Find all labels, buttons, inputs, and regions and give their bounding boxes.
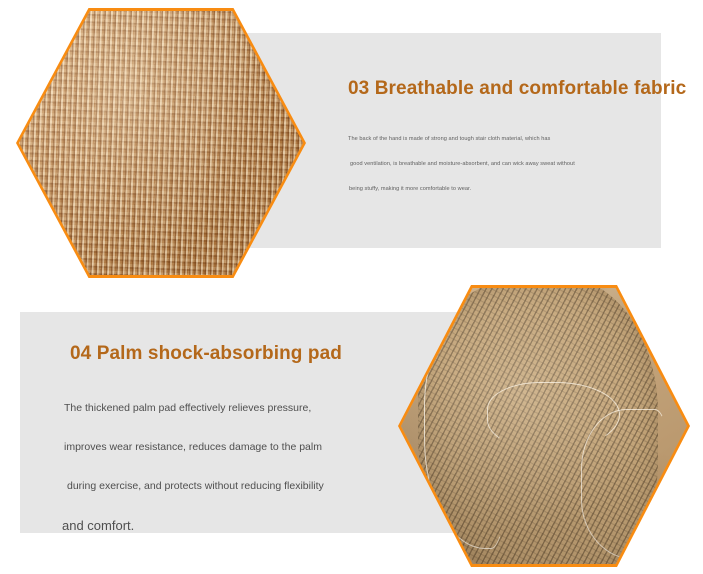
section-03-body-line-1: The back of the hand is made of strong a… bbox=[348, 136, 610, 143]
section-04-body-line-2: improves wear resistance, reduces damage… bbox=[64, 441, 364, 454]
glove-shading-overlay bbox=[401, 288, 687, 564]
section-03-hexagon-image bbox=[16, 8, 306, 278]
product-feature-page: 03 Breathable and comfortable fabric The… bbox=[0, 0, 703, 574]
section-03-body-line-2: good ventilation, is breathable and mois… bbox=[350, 161, 610, 168]
hexagon-image-clip bbox=[401, 288, 687, 564]
section-04-hexagon-image bbox=[398, 285, 690, 567]
section-04-body-line-1: The thickened palm pad effectively relie… bbox=[64, 402, 364, 415]
section-03-body: The back of the hand is made of strong a… bbox=[348, 136, 610, 211]
fabric-sheen-overlay bbox=[19, 11, 303, 275]
section-03-body-line-3: being stuffy, making it more comfortable… bbox=[349, 186, 610, 193]
section-04-heading: 04 Palm shock-absorbing pad bbox=[70, 343, 342, 365]
glove-palm-image bbox=[401, 288, 687, 564]
section-04-body-line-4: and comfort. bbox=[62, 519, 364, 532]
hexagon-image-clip bbox=[19, 11, 303, 275]
section-04-body-line-3: during exercise, and protects without re… bbox=[67, 480, 364, 493]
section-03-heading: 03 Breathable and comfortable fabric bbox=[348, 78, 686, 100]
section-04-body: The thickened palm pad effectively relie… bbox=[64, 402, 364, 532]
